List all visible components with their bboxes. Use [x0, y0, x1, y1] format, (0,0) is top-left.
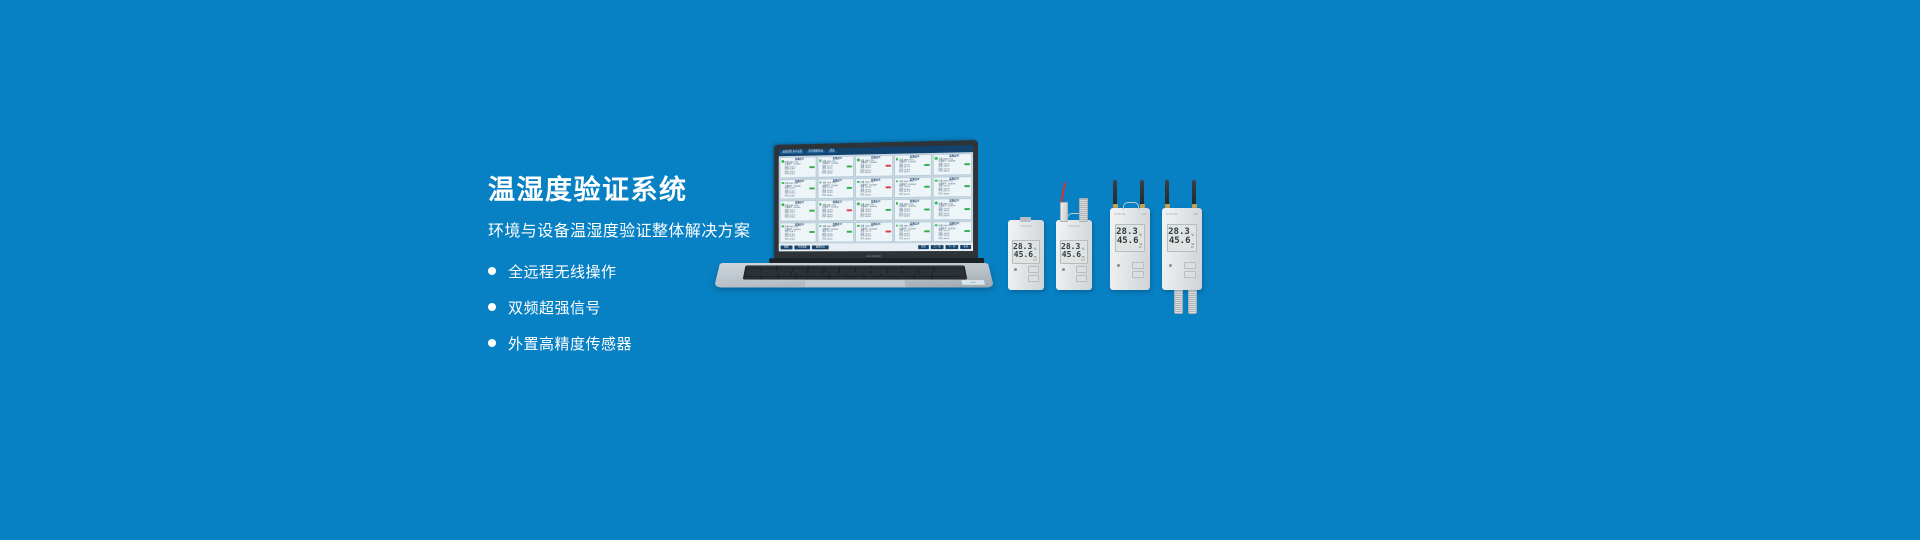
- status-led-icon: [857, 180, 859, 182]
- lcd-sub-label: RH: [1170, 246, 1194, 249]
- lcd-humidity-line: 45.6 %: [1118, 237, 1142, 246]
- monitor-card-row: 时间45.2%: [785, 173, 815, 176]
- monitor-card-key: 时间: [899, 172, 903, 174]
- monitor-card-body: 监测点07设备RHT-7716设备编号1120007温度23.5℃湿度45.0%…: [822, 180, 852, 197]
- antenna-icon: [1140, 180, 1144, 206]
- status-led-icon: [935, 157, 937, 160]
- monitor-card-key: 时间: [785, 174, 789, 176]
- monitor-card-row: 时间45.0%: [822, 238, 852, 240]
- monitor-card-body: 监测点20设备RHT-7729设备编号1120020温度24.5℃湿度46.8%…: [939, 223, 971, 241]
- monitor-card-grid: 监测点01设备RHT-7710设备编号1120001温度23.8℃湿度45.6%…: [779, 152, 973, 244]
- monitor-card-body: 监测点18设备RHT-7727设备编号1120018温度26.2℃湿度50.1%…: [860, 223, 891, 240]
- monitor-card-key: 时间: [899, 238, 903, 240]
- device-brand-label: UNION: [1008, 224, 1044, 228]
- monitor-card-body: 监测点19设备RHT-7728设备编号1120019温度23.3℃湿度44.4%…: [899, 223, 930, 240]
- monitor-card-row: 时间44.1%: [899, 238, 930, 240]
- lcd-sub-label: RH: [1063, 259, 1084, 262]
- bullet-dot-icon: [488, 303, 496, 311]
- monitor-card-key: 时间: [860, 194, 864, 196]
- menu-item-history[interactable]: 历史数据查询: [807, 150, 825, 154]
- feature-label: 双频超强信号: [508, 297, 601, 318]
- monitor-card-body: 监测点10设备RHT-7719设备编号1120010温度24.3℃湿度46.3%…: [939, 178, 971, 196]
- sensor-device-group: UNION 28.3 ℃ 45.6 % RH UNION: [1000, 178, 1220, 308]
- monitor-card-body: 监测点02设备RHT-7711设备编号1120002温度24.1℃湿度46.0%…: [822, 158, 852, 176]
- menu-item-help[interactable]: 帮助: [828, 150, 837, 154]
- pagination-group: 首页 上一页 下一页 末页: [918, 245, 971, 250]
- status-led-icon: [781, 160, 783, 162]
- monitor-card-key: 时间: [860, 216, 864, 218]
- monitor-card-value: 44.5%: [904, 171, 930, 174]
- page-prev-button[interactable]: 上一页: [931, 245, 944, 249]
- print-report-button[interactable]: 打印报表: [794, 245, 810, 249]
- monitor-card-key: 时间: [860, 238, 864, 240]
- monitor-card-value: 44.0%: [789, 217, 814, 219]
- laptop-base: intel: [714, 263, 994, 287]
- monitor-card[interactable]: 监测点06设备RHT-7715设备编号1120006温度24.6℃湿度47.1%…: [780, 178, 817, 199]
- monitor-card-value: 46.0%: [944, 193, 971, 195]
- monitor-card-body: 监测点12设备RHT-7721设备编号1120012温度25.7℃湿度48.8%…: [822, 201, 852, 218]
- monitor-card-body: 监测点11设备RHT-7720设备编号1120011温度23.1℃湿度44.2%…: [785, 202, 815, 219]
- monitor-card-value: 49.2%: [865, 194, 891, 196]
- monitor-card-value: 48.0%: [865, 172, 891, 175]
- monitor-card[interactable]: 监测点10设备RHT-7719设备编号1120010温度24.3℃湿度46.3%…: [933, 176, 972, 198]
- monitor-card-value: 43.6%: [944, 170, 971, 173]
- monitor-card-row: 时间49.8%: [860, 238, 891, 240]
- lcd-humidity-value: 45.6: [1014, 251, 1033, 259]
- promo-banner: 温湿度验证系统 环境与设备温湿度验证整体解决方案 全远程无线操作 双频超强信号 …: [0, 0, 1920, 540]
- refresh-button[interactable]: 刷新: [781, 245, 793, 249]
- device-hook: [1123, 202, 1139, 210]
- monitor-card-key: 时间: [899, 216, 903, 218]
- lcd-sub-label: RH: [1015, 259, 1036, 262]
- monitor-card-row: 时间44.5%: [899, 171, 930, 174]
- device-model-label: H8: [1193, 212, 1198, 216]
- keyboard-row: [744, 277, 966, 279]
- monitor-card-value: 45.0%: [827, 238, 852, 240]
- antenna-icon: [1192, 180, 1196, 206]
- status-led-icon: [819, 225, 821, 227]
- device-indicator-led: [1062, 268, 1065, 271]
- monitor-card-row: 时间43.6%: [939, 170, 971, 173]
- device-wireless-logger-dual-antenna-left: UNION H8 28.3 ℃ 45.6 % RH: [1110, 208, 1150, 290]
- lcd-sub-label: RH: [1118, 246, 1142, 249]
- probe-sensor-tip: [1174, 290, 1183, 314]
- device-brand-row: UNION H8: [1110, 212, 1150, 216]
- list-item: 双频超强信号: [488, 297, 908, 318]
- monitor-card[interactable]: 监测点09设备RHT-7718设备编号1120009温度23.9℃湿度45.4%…: [894, 176, 932, 198]
- monitor-card-key: 时间: [939, 171, 943, 173]
- monitor-card-body: 监测点01设备RHT-7710设备编号1120001温度23.8℃湿度45.6%…: [785, 158, 815, 175]
- status-led-icon: [819, 181, 821, 183]
- monitor-card[interactable]: 监测点05设备RHT-7714设备编号1120005温度22.9℃湿度43.9%…: [933, 153, 972, 175]
- list-item: 外置高精度传感器: [488, 333, 908, 354]
- device-wireless-logger-basic: UNION 28.3 ℃ 45.6 % RH: [1008, 220, 1044, 290]
- status-led-icon: [819, 203, 821, 205]
- monitor-card-row: 时间44.6%: [899, 216, 930, 218]
- antenna-base: [1192, 204, 1197, 208]
- monitor-card-value: 46.5%: [944, 238, 971, 240]
- intel-badge: intel: [961, 280, 985, 285]
- antenna-base: [1140, 204, 1145, 208]
- probe-sensor-tip: [1079, 198, 1088, 222]
- monitor-card[interactable]: 监测点01设备RHT-7710设备编号1120001温度23.8℃湿度45.6%…: [780, 156, 817, 177]
- status-led-icon: [781, 225, 783, 227]
- monitor-card-key: 时间: [785, 239, 789, 241]
- status-led-icon: [896, 224, 898, 226]
- monitor-card-body: 监测点16设备RHT-7725设备编号1120016温度24.8℃湿度47.6%…: [785, 224, 815, 241]
- monitor-card-key: 时间: [939, 238, 943, 240]
- monitor-card-key: 时间: [822, 173, 826, 175]
- device-indicator-led: [1117, 264, 1120, 267]
- page-last-button[interactable]: 末页: [960, 245, 971, 249]
- antenna-base: [1165, 204, 1170, 208]
- device-button-up[interactable]: [1132, 262, 1144, 269]
- monitor-card-row: 时间45.1%: [899, 193, 930, 195]
- device-button-down[interactable]: [1076, 275, 1087, 282]
- monitor-card-key: 时间: [939, 216, 943, 218]
- monitor-card-row: 时间48.5%: [822, 216, 852, 218]
- monitor-card-body: 监测点05设备RHT-7714设备编号1120005温度22.9℃湿度43.9%…: [939, 155, 971, 173]
- monitor-card-body: 监测点03设备RHT-7712设备编号1120003温度25.4℃湿度48.2%…: [860, 157, 891, 175]
- lcd-humidity-value: 45.6: [1169, 237, 1191, 246]
- device-button-up[interactable]: [1076, 266, 1087, 273]
- monitor-card-row: 时间49.2%: [860, 194, 891, 196]
- page-next-button[interactable]: 下一页: [946, 245, 959, 249]
- monitor-card-value: 43.2%: [944, 215, 971, 217]
- monitor-card-body: 监测点08设备RHT-7717设备编号1120008温度26.0℃湿度49.5%…: [860, 179, 891, 197]
- lcd-humidity-line: 45.6 %: [1063, 251, 1084, 259]
- menu-item-device[interactable]: 设备管理 用户设置: [781, 151, 804, 155]
- device-lcd-display: 28.3 ℃ 45.6 % RH: [1060, 240, 1087, 264]
- status-led-icon: [935, 179, 937, 182]
- monitor-card-key: 时间: [860, 172, 864, 174]
- bullet-dot-icon: [488, 339, 496, 347]
- monitor-card-body: 监测点09设备RHT-7718设备编号1120009温度23.9℃湿度45.4%…: [899, 178, 930, 196]
- toolbar-left-group: 刷新 打印报表 数据导出: [781, 245, 829, 249]
- page-first-button[interactable]: 首页: [918, 245, 928, 249]
- monitor-card-row: 时间44.0%: [785, 217, 815, 219]
- monitor-card-key: 时间: [822, 217, 826, 219]
- device-wireless-logger-dual-antenna-right: UNION H8 28.3 ℃ 45.6 % RH: [1162, 208, 1202, 290]
- monitor-card[interactable]: 监测点16设备RHT-7725设备编号1120016温度24.8℃湿度47.6%…: [780, 222, 817, 243]
- device-lcd-display: 28.3 ℃ 45.6 % RH: [1115, 224, 1145, 252]
- monitor-card-row: 时间45.8%: [822, 172, 852, 175]
- monitor-card-key: 时间: [822, 195, 826, 197]
- monitor-card[interactable]: 监测点17设备RHT-7726设备编号1120017温度23.7℃湿度45.3%…: [817, 221, 854, 242]
- monitor-card-value: 45.1%: [904, 193, 930, 195]
- device-button-down[interactable]: [1184, 271, 1196, 278]
- antenna-base: [1113, 204, 1118, 208]
- monitor-card[interactable]: 监测点02设备RHT-7711设备编号1120002温度24.1℃湿度46.0%…: [817, 156, 854, 178]
- monitor-card-value: 47.3%: [789, 238, 814, 240]
- device-brand-label: UNION: [1056, 224, 1092, 228]
- status-led-icon: [781, 203, 783, 205]
- lcd-humidity-value: 45.6: [1117, 237, 1139, 246]
- monitor-card[interactable]: 监测点13设备RHT-7722设备编号1120013温度24.0℃湿度45.9%…: [855, 199, 893, 220]
- monitor-card-row: 时间46.5%: [939, 238, 971, 240]
- device-indicator-led: [1169, 264, 1172, 267]
- laptop-screen: 设备管理 用户设置 历史数据查询 帮助 监测点01设备RHT-7710设备编号1…: [779, 145, 973, 251]
- probe-sensor-tip: [1188, 290, 1197, 314]
- status-led-icon: [935, 201, 937, 204]
- status-led-icon: [896, 180, 898, 182]
- monitor-card[interactable]: 监测点11设备RHT-7720设备编号1120011温度23.1℃湿度44.2%…: [780, 200, 817, 221]
- monitor-card-value: 45.8%: [827, 172, 852, 174]
- device-brand-row: UNION H8: [1162, 212, 1202, 216]
- monitor-card-key: 时间: [822, 238, 826, 240]
- probe-cable: [1060, 182, 1066, 204]
- monitor-card-value: 49.8%: [865, 238, 891, 240]
- status-led-icon: [857, 224, 859, 226]
- monitor-card-body: 监测点15设备RHT-7724设备编号1120015温度22.8℃湿度43.5%…: [939, 200, 971, 218]
- monitor-card-body: 监测点13设备RHT-7722设备编号1120013温度24.0℃湿度45.9%…: [860, 201, 891, 218]
- status-led-icon: [935, 224, 937, 226]
- monitor-card-key: 时间: [785, 217, 789, 219]
- monitor-card-body: 监测点14设备RHT-7723设备编号1120014温度23.4℃湿度44.9%…: [899, 201, 930, 219]
- monitor-card[interactable]: 监测点14设备RHT-7723设备编号1120014温度23.4℃湿度44.9%…: [894, 199, 932, 221]
- status-led-icon: [857, 158, 859, 160]
- monitor-card[interactable]: 监测点03设备RHT-7712设备编号1120003温度25.4℃湿度48.2%…: [855, 155, 893, 177]
- monitor-card-value: 45.6%: [865, 216, 891, 218]
- device-model-label: H8: [1141, 212, 1146, 216]
- monitor-card[interactable]: 监测点07设备RHT-7716设备编号1120007温度23.5℃湿度45.0%…: [817, 178, 854, 199]
- monitor-card-body: 监测点17设备RHT-7726设备编号1120017温度23.7℃湿度45.3%…: [822, 223, 852, 240]
- monitor-card-value: 48.5%: [827, 216, 852, 218]
- status-led-icon: [896, 202, 898, 204]
- feature-label: 外置高精度传感器: [508, 333, 632, 354]
- lcd-humidity-value: 45.6: [1062, 251, 1081, 259]
- device-wireless-logger-probe: UNION 28.3 ℃ 45.6 % RH: [1056, 220, 1092, 290]
- device-button-up[interactable]: [1184, 262, 1196, 269]
- device-lcd-display: 28.3 ℃ 45.6 % RH: [1167, 224, 1197, 252]
- device-lcd-display: 28.3 ℃ 45.6 % RH: [1012, 240, 1039, 264]
- monitor-card-key: 时间: [939, 193, 943, 195]
- laptop-keyboard[interactable]: [743, 265, 968, 279]
- device-clip: [1020, 217, 1031, 222]
- laptop-lid: 设备管理 用户设置 历史数据查询 帮助 监测点01设备RHT-7710设备编号1…: [774, 140, 978, 260]
- bullet-dot-icon: [488, 267, 496, 275]
- monitor-card[interactable]: 监测点12设备RHT-7721设备编号1120012温度25.7℃湿度48.8%…: [817, 200, 854, 221]
- laptop-trackpad[interactable]: [804, 279, 906, 287]
- monitor-card-body: 监测点06设备RHT-7715设备编号1120006温度24.6℃湿度47.1%…: [785, 180, 815, 197]
- feature-label: 全远程无线操作: [508, 261, 617, 282]
- monitor-card-row: 时间47.3%: [785, 238, 815, 240]
- device-button-down[interactable]: [1028, 275, 1039, 282]
- monitor-card-value: 44.1%: [904, 238, 930, 240]
- device-brand-label: UNION: [1166, 212, 1178, 216]
- monitor-card-key: 时间: [785, 195, 789, 197]
- antenna-icon: [1165, 180, 1169, 206]
- lcd-humidity-line: 45.6 %: [1170, 237, 1194, 246]
- monitor-card-value: 44.6%: [904, 216, 930, 218]
- monitor-card-row: 时间48.0%: [860, 172, 891, 175]
- status-led-icon: [819, 159, 821, 161]
- monitor-card[interactable]: 监测点18设备RHT-7727设备编号1120018温度26.2℃湿度50.1%…: [855, 221, 893, 242]
- laptop-product-image: 设备管理 用户设置 历史数据查询 帮助 监测点01设备RHT-7710设备编号1…: [718, 140, 990, 300]
- antenna-icon: [1113, 180, 1117, 206]
- monitor-card[interactable]: 监测点19设备RHT-7728设备编号1120019温度23.3℃湿度44.4%…: [894, 221, 932, 242]
- status-led-icon: [781, 182, 783, 184]
- monitor-card-row: 时间43.2%: [939, 215, 971, 217]
- device-indicator-led: [1014, 268, 1017, 271]
- export-data-button[interactable]: 数据导出: [812, 245, 828, 249]
- status-led-icon: [896, 158, 898, 161]
- monitor-card[interactable]: 监测点20设备RHT-7729设备编号1120020温度24.5℃湿度46.8%…: [933, 221, 972, 243]
- monitor-card[interactable]: 监测点04设备RHT-7713设备编号1120004温度23.2℃湿度44.7%…: [894, 154, 932, 176]
- monitor-card-value: 45.2%: [789, 173, 814, 175]
- device-brand-label: UNION: [1114, 212, 1126, 216]
- probe-connector: [1060, 202, 1068, 222]
- monitor-card-row: 时间45.6%: [860, 216, 891, 218]
- monitor-card[interactable]: 监测点15设备RHT-7724设备编号1120015温度22.8℃湿度43.5%…: [933, 198, 972, 220]
- monitor-card-row: 时间46.9%: [785, 195, 815, 197]
- monitor-card-body: 监测点04设备RHT-7713设备编号1120004温度23.2℃湿度44.7%…: [899, 156, 930, 174]
- status-led-icon: [857, 202, 859, 204]
- device-button-down[interactable]: [1132, 271, 1144, 278]
- monitor-card[interactable]: 监测点08设备RHT-7717设备编号1120008温度26.0℃湿度49.5%…: [855, 177, 893, 199]
- monitor-card-row: 时间44.8%: [822, 194, 852, 196]
- monitor-card-value: 44.8%: [827, 194, 852, 196]
- monitor-card-row: 时间46.0%: [939, 193, 971, 195]
- lcd-humidity-line: 45.6 %: [1015, 251, 1036, 259]
- monitor-card-value: 46.9%: [789, 195, 814, 197]
- device-button-up[interactable]: [1028, 266, 1039, 273]
- monitor-card-key: 时间: [899, 194, 903, 196]
